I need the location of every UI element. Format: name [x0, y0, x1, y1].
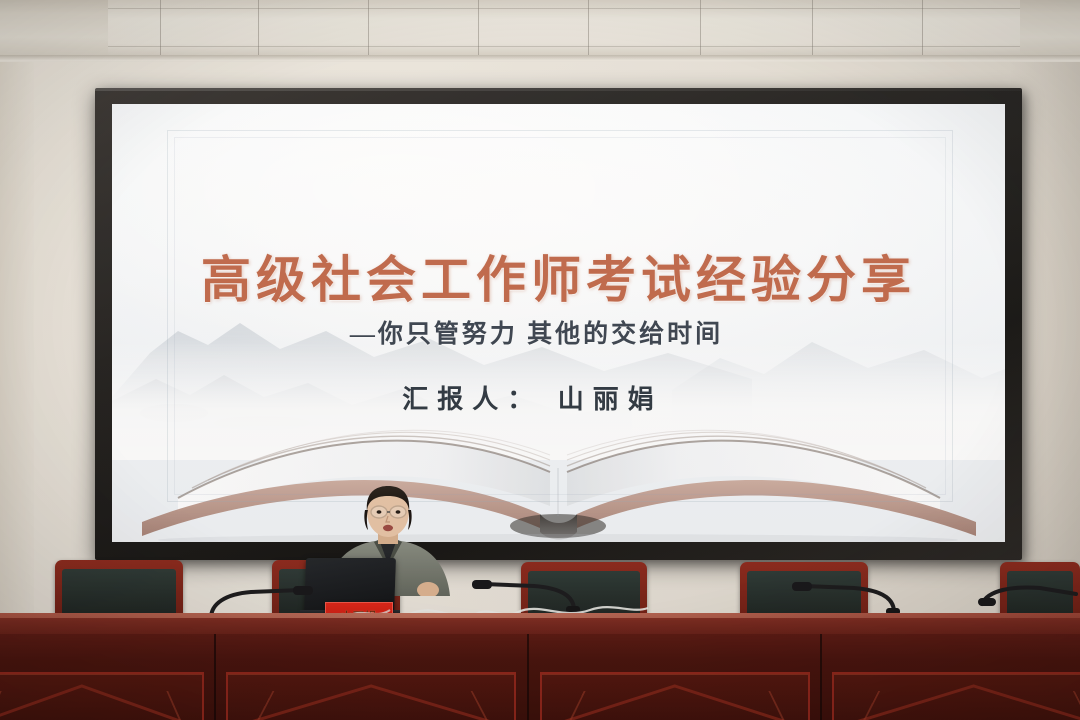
desk-panel-1 [0, 672, 204, 720]
slide-presenter-line: 汇报人： 山丽娟 [112, 379, 1005, 416]
projection-screen-bezel: 高级社会工作师考试经验分享 —你只管努力 其他的交给时间 汇报人： 山丽娟 [95, 88, 1022, 560]
wall-left-column [0, 62, 34, 622]
panel-chevron-3 [563, 684, 786, 720]
ceiling-tiles [108, 0, 1020, 62]
bezel-highlight [95, 88, 1022, 91]
desk-top-sheen [0, 613, 1080, 618]
panel-chevron-4 [856, 684, 1080, 720]
desk-seam-3 [820, 634, 822, 720]
desk-panel-4 [832, 672, 1080, 720]
slide-subtitle: —你只管努力 其他的交给时间 [112, 314, 1005, 350]
desk-seam-1 [214, 634, 216, 720]
panel-chevron-1 [0, 684, 183, 720]
slide-title: 高级社会工作师考试经验分享 [112, 240, 1005, 312]
conference-room-photo: 高级社会工作师考试经验分享 —你只管努力 其他的交给时间 汇报人： 山丽娟 [0, 0, 1080, 720]
panel-chevron-2 [251, 684, 491, 720]
microphone-4 [978, 582, 1080, 616]
presentation-slide: 高级社会工作师考试经验分享 —你只管努力 其他的交给时间 汇报人： 山丽娟 [112, 104, 1005, 542]
desk-seam-2 [527, 634, 529, 720]
desk-panel-2 [226, 672, 516, 720]
microphone-3 [790, 582, 900, 616]
desk-panel-3 [540, 672, 810, 720]
ceiling [0, 0, 1080, 62]
